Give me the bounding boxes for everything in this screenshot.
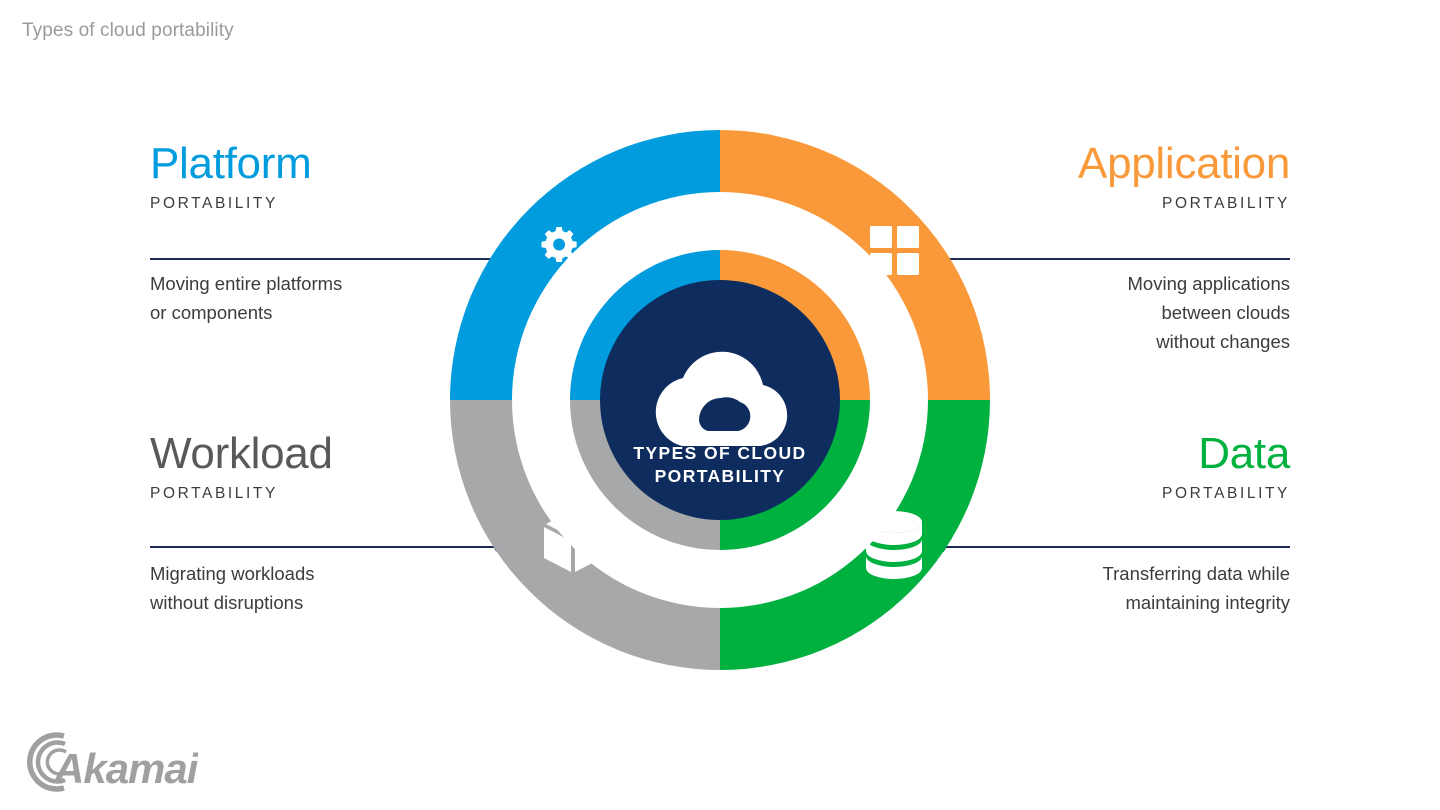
label-rule-spacer (930, 503, 1290, 559)
label-description-application: Moving applications between clouds witho… (930, 269, 1290, 357)
label-rule-spacer (150, 213, 510, 269)
hub-label-line2: PORTABILITY (655, 466, 786, 486)
label-title-data: Data (930, 432, 1290, 477)
donut-wheel: TYPES OF CLOUD PORTABILITY (430, 110, 1010, 690)
label-subtitle-data: PORTABILITY (930, 485, 1290, 503)
portability-wheel-diagram: TYPES OF CLOUD PORTABILITY Platform PORT… (0, 0, 1440, 810)
label-subtitle-platform: PORTABILITY (150, 195, 510, 213)
label-subtitle-application: PORTABILITY (930, 195, 1290, 213)
label-description-workload: Migrating workloads without disruptions (150, 559, 510, 617)
label-block-data: Data PORTABILITY Transferring data while… (930, 432, 1290, 617)
label-block-platform: Platform PORTABILITY Moving entire platf… (150, 142, 510, 327)
label-rule-spacer (930, 213, 1290, 269)
label-rule-spacer (150, 503, 510, 559)
label-title-application: Application (930, 142, 1290, 187)
akamai-logo: Akamai (18, 728, 198, 796)
label-block-workload: Workload PORTABILITY Migrating workloads… (150, 432, 510, 617)
label-description-platform: Moving entire platforms or components (150, 269, 510, 327)
label-subtitle-workload: PORTABILITY (150, 485, 510, 503)
akamai-wordmark: Akamai (53, 745, 198, 792)
label-title-workload: Workload (150, 432, 510, 477)
label-block-application: Application PORTABILITY Moving applicati… (930, 142, 1290, 357)
hub-label-line1: TYPES OF CLOUD (633, 443, 806, 463)
label-description-data: Transferring data while maintaining inte… (930, 559, 1290, 617)
label-title-platform: Platform (150, 142, 510, 187)
